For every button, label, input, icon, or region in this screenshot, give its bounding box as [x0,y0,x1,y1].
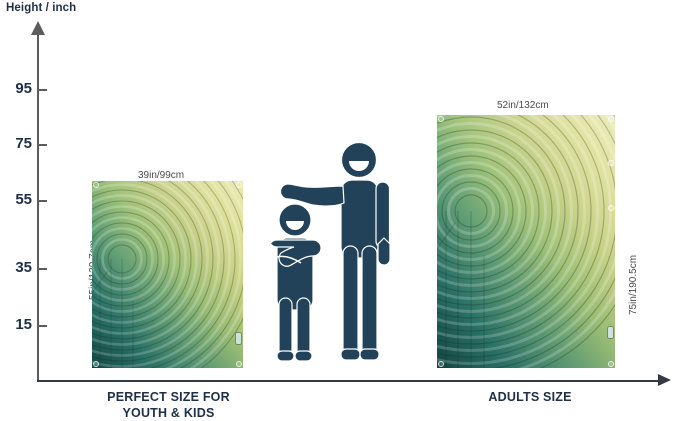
adults-blanket-image [437,115,615,368]
grommet-top-left [93,182,99,188]
grommet-bottom-right [608,361,614,367]
people-pictogram [255,130,425,380]
child-figure-icon [269,204,321,361]
grommet-bottom-right [236,361,242,367]
caption-youth-kids-line2: YOUTH & KIDS [86,405,251,421]
y-tick-35 [38,268,47,270]
y-tick-label-15: 15 [4,316,32,333]
grommet-top-right [608,116,614,122]
y-tick-label-55: 55 [4,191,32,208]
x-axis-line [37,380,661,382]
y-tick-95 [38,89,47,91]
y-axis-title: Height / inch [6,2,76,14]
y-tick-label-75: 75 [4,135,32,152]
caption-adults-line1: ADULTS SIZE [450,389,610,405]
blanket-sheen [92,181,243,368]
grommet-bottom-left [438,361,444,367]
grommet-right-mid [608,205,614,211]
grommet-right-upper [608,160,614,166]
y-tick-label-35: 35 [4,259,32,276]
blanket-sheen [437,115,615,368]
caption-adults: ADULTS SIZE [450,389,610,405]
small-blanket-width-label: 39in/99cm [138,170,184,181]
human-figures-group [255,130,425,380]
grommet-bottom-left [93,361,99,367]
youth-kids-blanket-image [92,181,243,368]
y-tick-label-95: 95 [4,80,32,97]
size-comparison-chart: Height / inch 95 75 55 35 15 39in/99cm 5… [0,0,679,421]
y-tick-55 [38,200,47,202]
x-axis-arrow-icon [658,374,671,386]
grommet-top-left [438,116,444,122]
adults-blanket-width-label: 52in/132cm [497,100,549,111]
y-tick-15 [38,325,47,327]
brand-tag [608,327,613,338]
y-axis-arrow-icon [31,21,45,35]
caption-youth-kids-line1: PERFECT SIZE FOR [86,389,251,405]
brand-tag [236,333,241,344]
caption-youth-kids: PERFECT SIZE FOR YOUTH & KIDS [86,389,251,421]
adults-blanket-height-label: 75in/190.5cm [628,255,639,315]
y-tick-75 [38,144,47,146]
y-axis-line [37,33,39,381]
grommet-top-right [236,182,242,188]
